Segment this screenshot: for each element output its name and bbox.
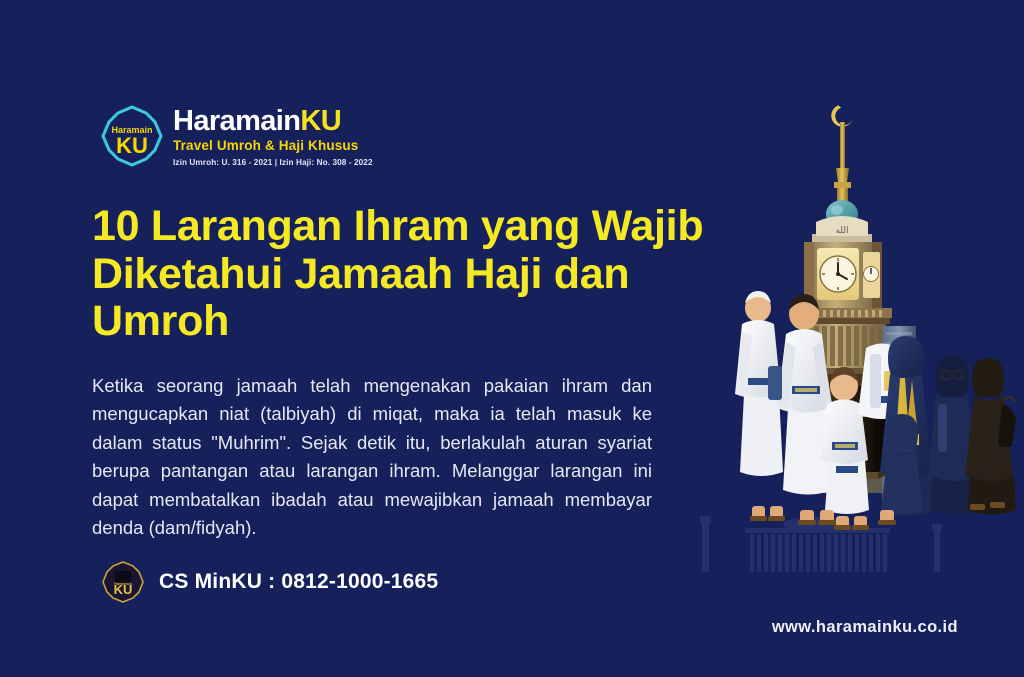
- contact-phone-label: CS MinKU : 0812-1000-1665: [159, 570, 438, 594]
- brand-license-text: Izin Umroh: U. 316 - 2021 | Izin Haji: N…: [173, 158, 373, 167]
- page-title: 10 Larangan Ihram yang Wajib Diketahui J…: [92, 203, 712, 346]
- headline-line-3: Umroh: [92, 298, 712, 346]
- headline-line-1: 10 Larangan Ihram yang Wajib: [92, 203, 712, 251]
- wordmark-accent: KU: [300, 105, 341, 137]
- haramainku-logo-icon: Haramain KU: [100, 104, 164, 168]
- website-url: www.haramainku.co.id: [772, 618, 958, 637]
- poster-canvas: الله: [0, 0, 1024, 677]
- svg-text:الله: الله: [835, 226, 848, 236]
- headline-line-2: Diketahui Jamaah Haji dan: [92, 251, 712, 299]
- brand-wordmark: HaramainKU: [173, 107, 373, 137]
- svg-text:Haramain: Haramain: [114, 581, 133, 586]
- wordmark-primary: Haramain: [173, 105, 300, 137]
- body-paragraph: Ketika seorang jamaah telah mengenakan p…: [92, 372, 652, 543]
- haramainku-badge-icon: KU Haramain: [101, 560, 145, 604]
- illustration-clock-tower-kaaba-pilgrims: الله: [724, 86, 1024, 546]
- contact-block: KU Haramain CS MinKU : 0812-1000-1665: [101, 560, 438, 604]
- svg-text:KU: KU: [116, 133, 148, 158]
- brand-logo: Haramain KU HaramainKU Travel Umroh & Ha…: [100, 104, 373, 168]
- brand-tagline: Travel Umroh & Haji Khusus: [173, 138, 373, 155]
